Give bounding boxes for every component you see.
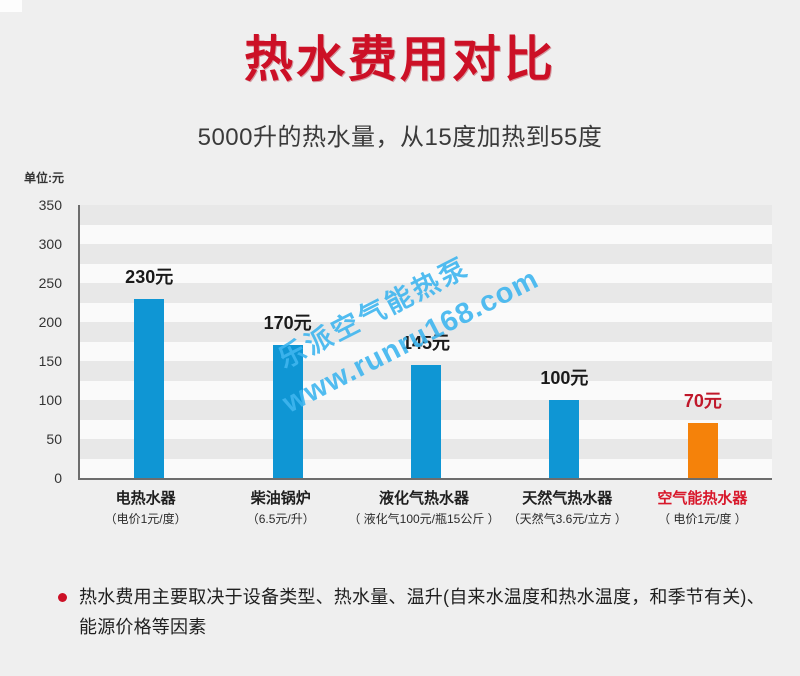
y-tick-150: 150 — [39, 353, 62, 369]
infographic-page: 热水费用对比 5000升的热水量，从15度加热到55度 单位:元 3503002… — [0, 0, 800, 676]
bar-slot: 230元 — [80, 205, 218, 478]
bar-电热水器[interactable] — [134, 299, 164, 478]
bullet-icon — [58, 593, 67, 602]
bar-value-label: 230元 — [125, 263, 173, 289]
bar-slot: 170元 — [218, 205, 356, 478]
y-tick-250: 250 — [39, 275, 62, 291]
x-label-液化气热水器: 液化气热水器（ 液化气100元/瓶15公斤 ） — [348, 487, 499, 529]
y-tick-300: 300 — [39, 236, 62, 252]
bar-slot: 100元 — [495, 205, 633, 478]
x-label-note: （天然气3.6元/立方 ） — [500, 510, 635, 529]
y-tick-200: 200 — [39, 314, 62, 330]
bar-柴油锅炉[interactable] — [273, 345, 303, 478]
x-label-电热水器: 电热水器（电价1元/度） — [78, 487, 213, 529]
x-label-name: 电热水器 — [78, 487, 213, 510]
y-tick-50: 50 — [46, 431, 62, 447]
page-subtitle: 5000升的热水量，从15度加热到55度 — [0, 117, 800, 152]
y-axis-ticks: 350300250200150100500 — [0, 205, 70, 478]
x-label-note: （ 液化气100元/瓶15公斤 ） — [348, 510, 499, 529]
bar-slot: 70元 — [634, 205, 772, 478]
x-label-空气能热水器: 空气能热水器（ 电价1元/度 ） — [635, 487, 770, 529]
bar-空气能热水器[interactable] — [688, 423, 718, 478]
x-label-note: （ 电价1元/度 ） — [635, 510, 770, 529]
bar-chart-plot-area: 230元170元145元100元70元 — [78, 205, 772, 480]
bar-value-label: 170元 — [264, 309, 312, 335]
bar-液化气热水器[interactable] — [411, 365, 441, 478]
x-label-name: 天然气热水器 — [500, 487, 635, 510]
footnote-text: 热水费用主要取决于设备类型、热水量、温升(自来水温度和热水温度，和季节有关)、能… — [79, 583, 773, 642]
x-label-name: 柴油锅炉 — [213, 487, 348, 510]
y-tick-350: 350 — [39, 197, 62, 213]
bar-value-label: 145元 — [402, 329, 450, 355]
bar-天然气热水器[interactable] — [549, 400, 579, 478]
x-axis-labels: 电热水器（电价1元/度）柴油锅炉（6.5元/升）液化气热水器（ 液化气100元/… — [78, 487, 770, 529]
x-label-天然气热水器: 天然气热水器（天然气3.6元/立方 ） — [500, 487, 635, 529]
bar-series: 230元170元145元100元70元 — [80, 205, 772, 478]
x-label-note: （电价1元/度） — [78, 510, 213, 529]
x-label-柴油锅炉: 柴油锅炉（6.5元/升） — [213, 487, 348, 529]
corner-strip — [0, 0, 22, 12]
bar-value-label: 70元 — [684, 387, 722, 413]
x-label-name: 液化气热水器 — [348, 487, 499, 510]
footnote: 热水费用主要取决于设备类型、热水量、温升(自来水温度和热水温度，和季节有关)、能… — [58, 583, 773, 642]
page-title: 热水费用对比 — [0, 34, 800, 88]
axis-unit-label: 单位:元 — [24, 169, 64, 186]
y-tick-100: 100 — [39, 392, 62, 408]
x-label-note: （6.5元/升） — [213, 510, 348, 529]
bar-value-label: 100元 — [540, 364, 588, 390]
bar-slot: 145元 — [357, 205, 495, 478]
y-tick-0: 0 — [54, 470, 62, 486]
x-label-name: 空气能热水器 — [635, 487, 770, 510]
